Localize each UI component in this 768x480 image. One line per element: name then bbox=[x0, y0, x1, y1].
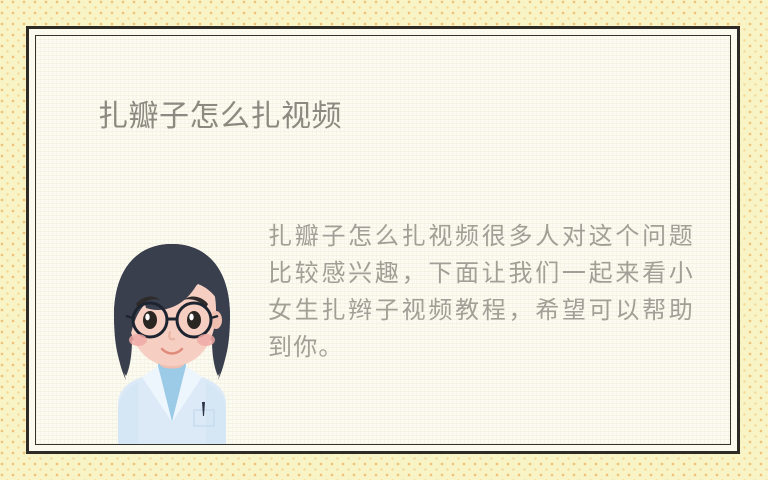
article-body-text: 扎瓣子怎么扎视频很多人对这个问题比较感兴趣，下面让我们一起来看小女生扎辫子视频教… bbox=[268, 208, 694, 366]
page-title: 扎瓣子怎么扎视频 bbox=[98, 99, 342, 134]
article-content-row: 扎瓣子怎么扎视频很多人对这个问题比较感兴趣，下面让我们一起来看小女生扎辫子视频教… bbox=[98, 208, 694, 444]
article-paragraph: 扎瓣子怎么扎视频很多人对这个问题比较感兴趣，下面让我们一起来看小女生扎辫子视频教… bbox=[268, 218, 694, 366]
avatar-illustration bbox=[98, 232, 246, 444]
article-card-frame: 扎瓣子怎么扎视频 bbox=[26, 26, 740, 454]
article-card-surface: 扎瓣子怎么扎视频 bbox=[36, 36, 730, 444]
female-doctor-avatar-icon bbox=[98, 232, 246, 444]
